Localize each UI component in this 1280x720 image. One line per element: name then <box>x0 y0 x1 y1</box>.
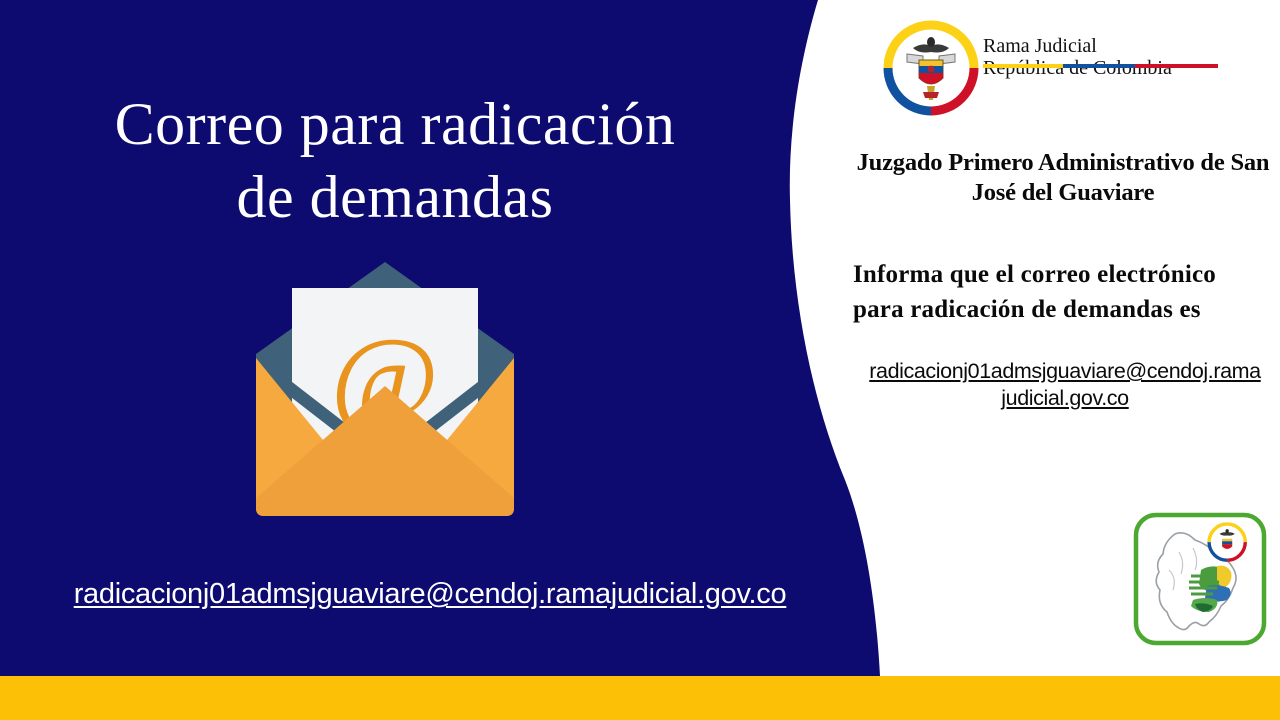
right-info-panel: Rama Judicial República de Colombia Juzg… <box>845 0 1280 676</box>
informa-line-2: para radicación de demandas es <box>853 293 1277 328</box>
page-title: Correo para radicación de demandas <box>0 88 790 234</box>
tricolor-underline <box>983 64 1218 68</box>
brand-line-2: República de Colombia <box>983 57 1233 79</box>
slide-canvas: Correo para radicación de demandas @ rad… <box>0 0 1280 720</box>
email-link-main[interactable]: radicacionj01admsjguaviare@cendoj.ramaju… <box>0 578 860 611</box>
envelope-icon: @ <box>252 258 518 520</box>
guaviare-logo-icon <box>1133 512 1267 646</box>
colombia-seal-icon <box>883 20 979 116</box>
envelope-icon-svg: @ <box>252 258 518 520</box>
page-title-line-2: de demandas <box>0 161 790 234</box>
bottom-accent-bar <box>0 676 1280 720</box>
court-name-line-1: Juzgado Primero Administrativo de San <box>853 148 1273 178</box>
informa-line-1: Informa que el correo electrónico <box>853 258 1277 293</box>
court-name-line-2: José del Guaviare <box>853 178 1273 208</box>
email-link-right[interactable]: radicacionj01admsjguaviare@cendoj.rama j… <box>853 358 1277 412</box>
email-right-line-2: judicial.gov.co <box>1001 386 1128 410</box>
rama-judicial-wordmark: Rama Judicial República de Colombia <box>983 36 1233 79</box>
email-right-line-1: radicacionj01admsjguaviare@cendoj.rama <box>869 359 1260 383</box>
rama-judicial-brand: Rama Judicial República de Colombia <box>865 18 1265 120</box>
informa-statement: Informa que el correo electrónico para r… <box>853 258 1277 327</box>
page-title-line-1: Correo para radicación <box>0 88 790 161</box>
court-name: Juzgado Primero Administrativo de San Jo… <box>853 148 1273 208</box>
brand-line-1: Rama Judicial <box>983 36 1233 57</box>
